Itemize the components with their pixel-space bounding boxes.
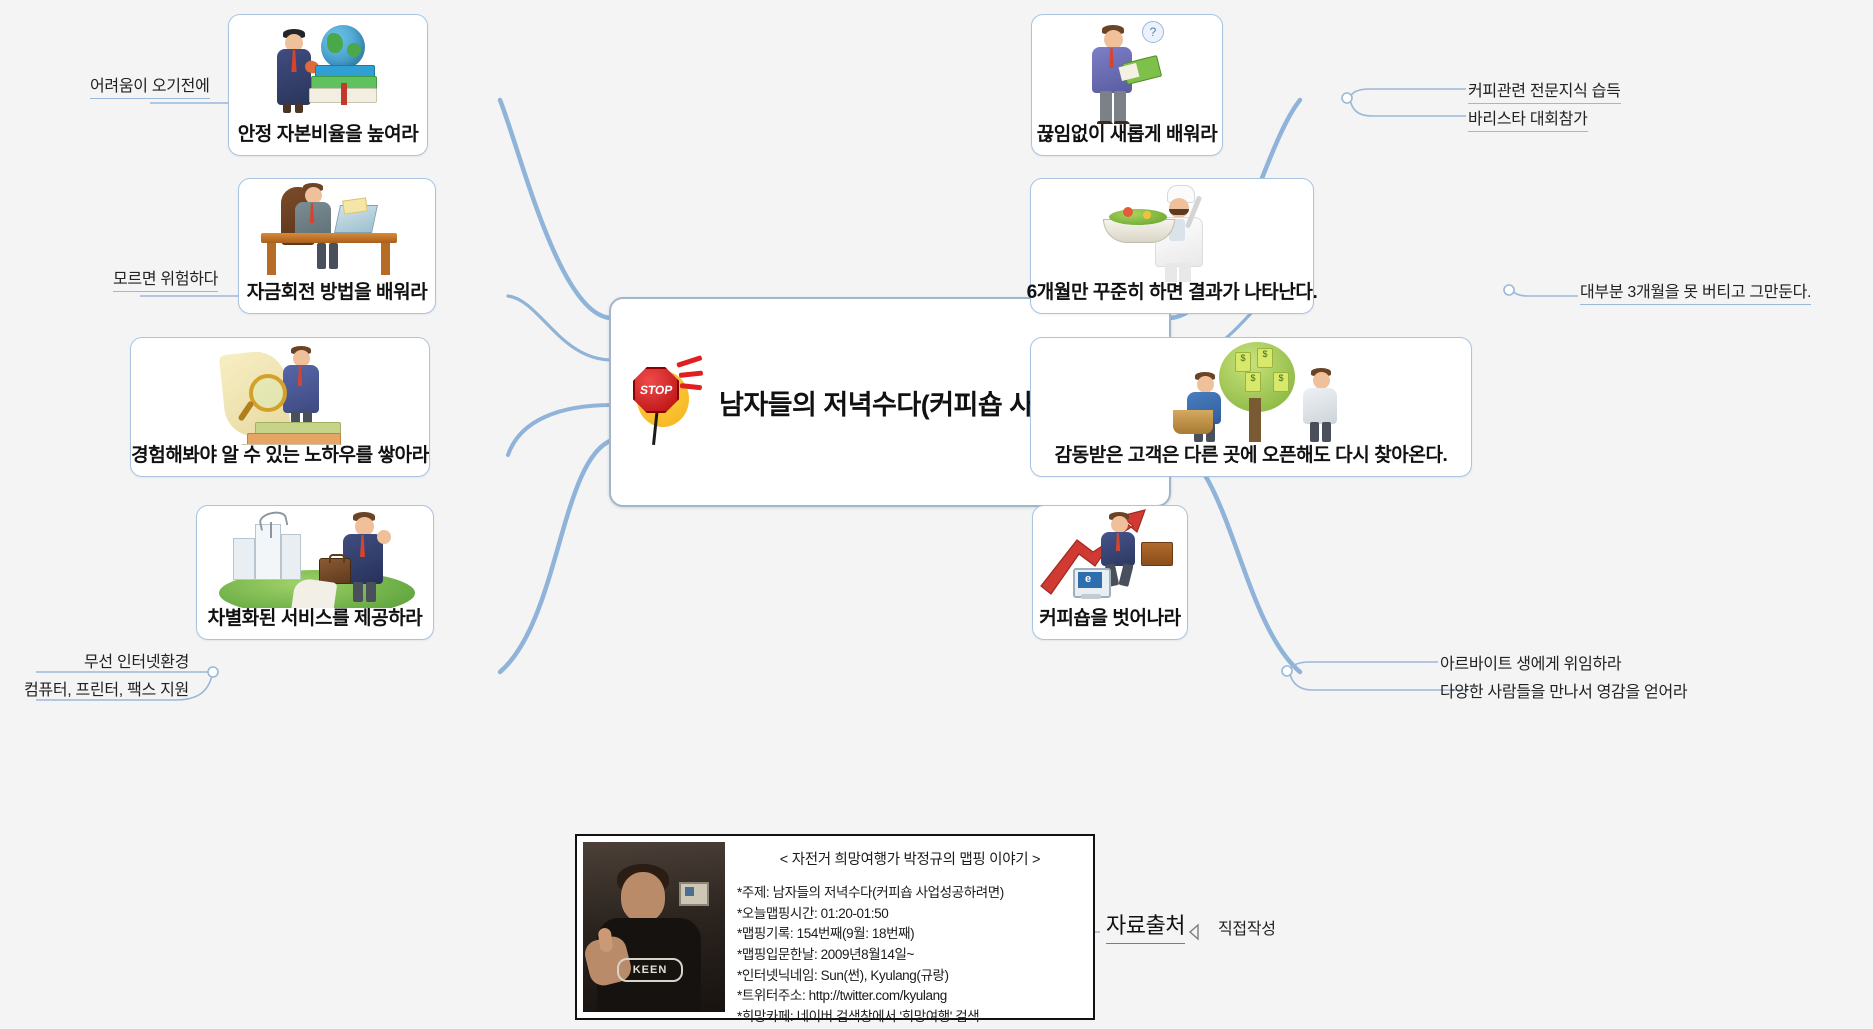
node-leave-the-shop[interactable]: e 커피숍을 벗어나라 xyxy=(1032,505,1188,640)
chef-serving-dish-icon xyxy=(1031,179,1313,282)
source-line-cafe: *희망카페: 네이버 검색창에서 '희망여행' 검색 xyxy=(737,1007,1083,1028)
subleaf-differentiated-service-1[interactable]: 컴퓨터, 프린터, 팩스 지원 xyxy=(24,676,189,702)
businessman-desk-laptop-icon xyxy=(239,179,435,282)
subleaf-capital-ratio-0[interactable]: 어려움이 오기전에 xyxy=(90,72,210,99)
source-heading: < 자전거 희망여행가 박정규의 맵핑 이야기 > xyxy=(737,848,1083,869)
node-capital-ratio[interactable]: 안정 자본비율을 높여라 xyxy=(228,14,428,156)
businessman-rising-arrow-icon: e xyxy=(1033,506,1187,608)
source-text-block: < 자전거 희망여행가 박정규의 맵핑 이야기 > *주제: 남자들의 저녁수다… xyxy=(725,842,1087,1012)
money-tree-harvest-icon: $ $ $ $ xyxy=(1031,338,1471,445)
source-info-panel: KEEN < 자전거 희망여행가 박정규의 맵핑 이야기 > *주제: 남자들의… xyxy=(575,834,1095,1020)
node-cash-flow[interactable]: 자금회전 방법을 배워라 xyxy=(238,178,436,314)
subleaf-keep-learning-1[interactable]: 바리스타 대회참가 xyxy=(1468,105,1588,132)
source-callout-label[interactable]: 자료출처 xyxy=(1106,908,1185,944)
node-moved-customers[interactable]: $ $ $ $ 감동받은 고객은 다른 곳에 오픈해도 다시 찾아온다. xyxy=(1030,337,1472,477)
photo-brand-logo: KEEN xyxy=(617,958,683,982)
node-moved-customers-label: 감동받은 고객은 다른 곳에 오픈해도 다시 찾아온다. xyxy=(1055,445,1448,468)
node-leave-the-shop-label: 커피숍을 벗어나라 xyxy=(1039,608,1181,631)
source-callout-note: 직접작성 xyxy=(1218,915,1276,939)
subleaf-leave-the-shop-1[interactable]: 다양한 사람들을 만나서 영감을 얻어라 xyxy=(1440,678,1687,704)
source-line-nickname: *인터넷닉네임: Sun(썬), Kyulang(규랑) xyxy=(737,966,1083,987)
node-keep-learning[interactable]: ? 끊임없이 새롭게 배워라 xyxy=(1031,14,1223,156)
node-cash-flow-label: 자금회전 방법을 배워라 xyxy=(247,282,428,305)
node-know-how[interactable]: 경험해봐야 알 수 있는 노하우를 쌓아라 xyxy=(130,337,430,477)
node-capital-ratio-label: 안정 자본비율을 높여라 xyxy=(238,124,419,147)
source-line-record: *맵핑기록: 154번째(9월: 18번째) xyxy=(737,924,1083,945)
source-line-twitter: *트위터주소: http://twitter.com/kyulang xyxy=(737,986,1083,1007)
stop-sign-icon: STOP xyxy=(627,357,705,447)
businessman-city-hill-icon xyxy=(197,506,433,608)
subleaf-differentiated-service-0[interactable]: 무선 인터넷환경 xyxy=(84,648,189,674)
subleaf-keep-learning-0[interactable]: 커피관련 전문지식 습득 xyxy=(1468,77,1621,104)
source-line-time: *오늘맵핑시간: 01:20-01:50 xyxy=(737,904,1083,925)
source-line-start-date: *맵핑입문한날: 2009년8월14일~ xyxy=(737,945,1083,966)
node-differentiated-service-label: 차별화된 서비스를 제공하라 xyxy=(208,608,423,631)
author-photo: KEEN xyxy=(583,842,725,1012)
source-line-topic: *주제: 남자들의 저녁수다(커피숍 사업성공하려면) xyxy=(737,883,1083,904)
man-reading-book-question-icon: ? xyxy=(1032,15,1222,124)
subleaf-six-months-0[interactable]: 대부분 3개월을 못 버티고 그만둔다. xyxy=(1580,278,1811,305)
node-differentiated-service[interactable]: 차별화된 서비스를 제공하라 xyxy=(196,505,434,640)
subleaf-cash-flow-0[interactable]: 모르면 위험하다 xyxy=(113,265,218,292)
node-know-how-label: 경험해봐야 알 수 있는 노하우를 쌓아라 xyxy=(131,445,429,468)
scroll-magnifier-books-icon xyxy=(131,338,429,445)
node-six-months-label: 6개월만 꾸준히 하면 결과가 나타난다. xyxy=(1027,282,1318,305)
subleaf-leave-the-shop-0[interactable]: 아르바이트 생에게 위임하라 xyxy=(1440,650,1621,676)
mindmap-canvas: STOP 남자들의 저녁수다(커피숍 사업성공하려면) 안정 자본비율을 높여라 xyxy=(0,0,1873,1029)
node-six-months[interactable]: 6개월만 꾸준히 하면 결과가 나타난다. xyxy=(1030,178,1314,314)
node-keep-learning-label: 끊임없이 새롭게 배워라 xyxy=(1037,124,1218,147)
graduate-globe-books-icon xyxy=(229,15,427,124)
